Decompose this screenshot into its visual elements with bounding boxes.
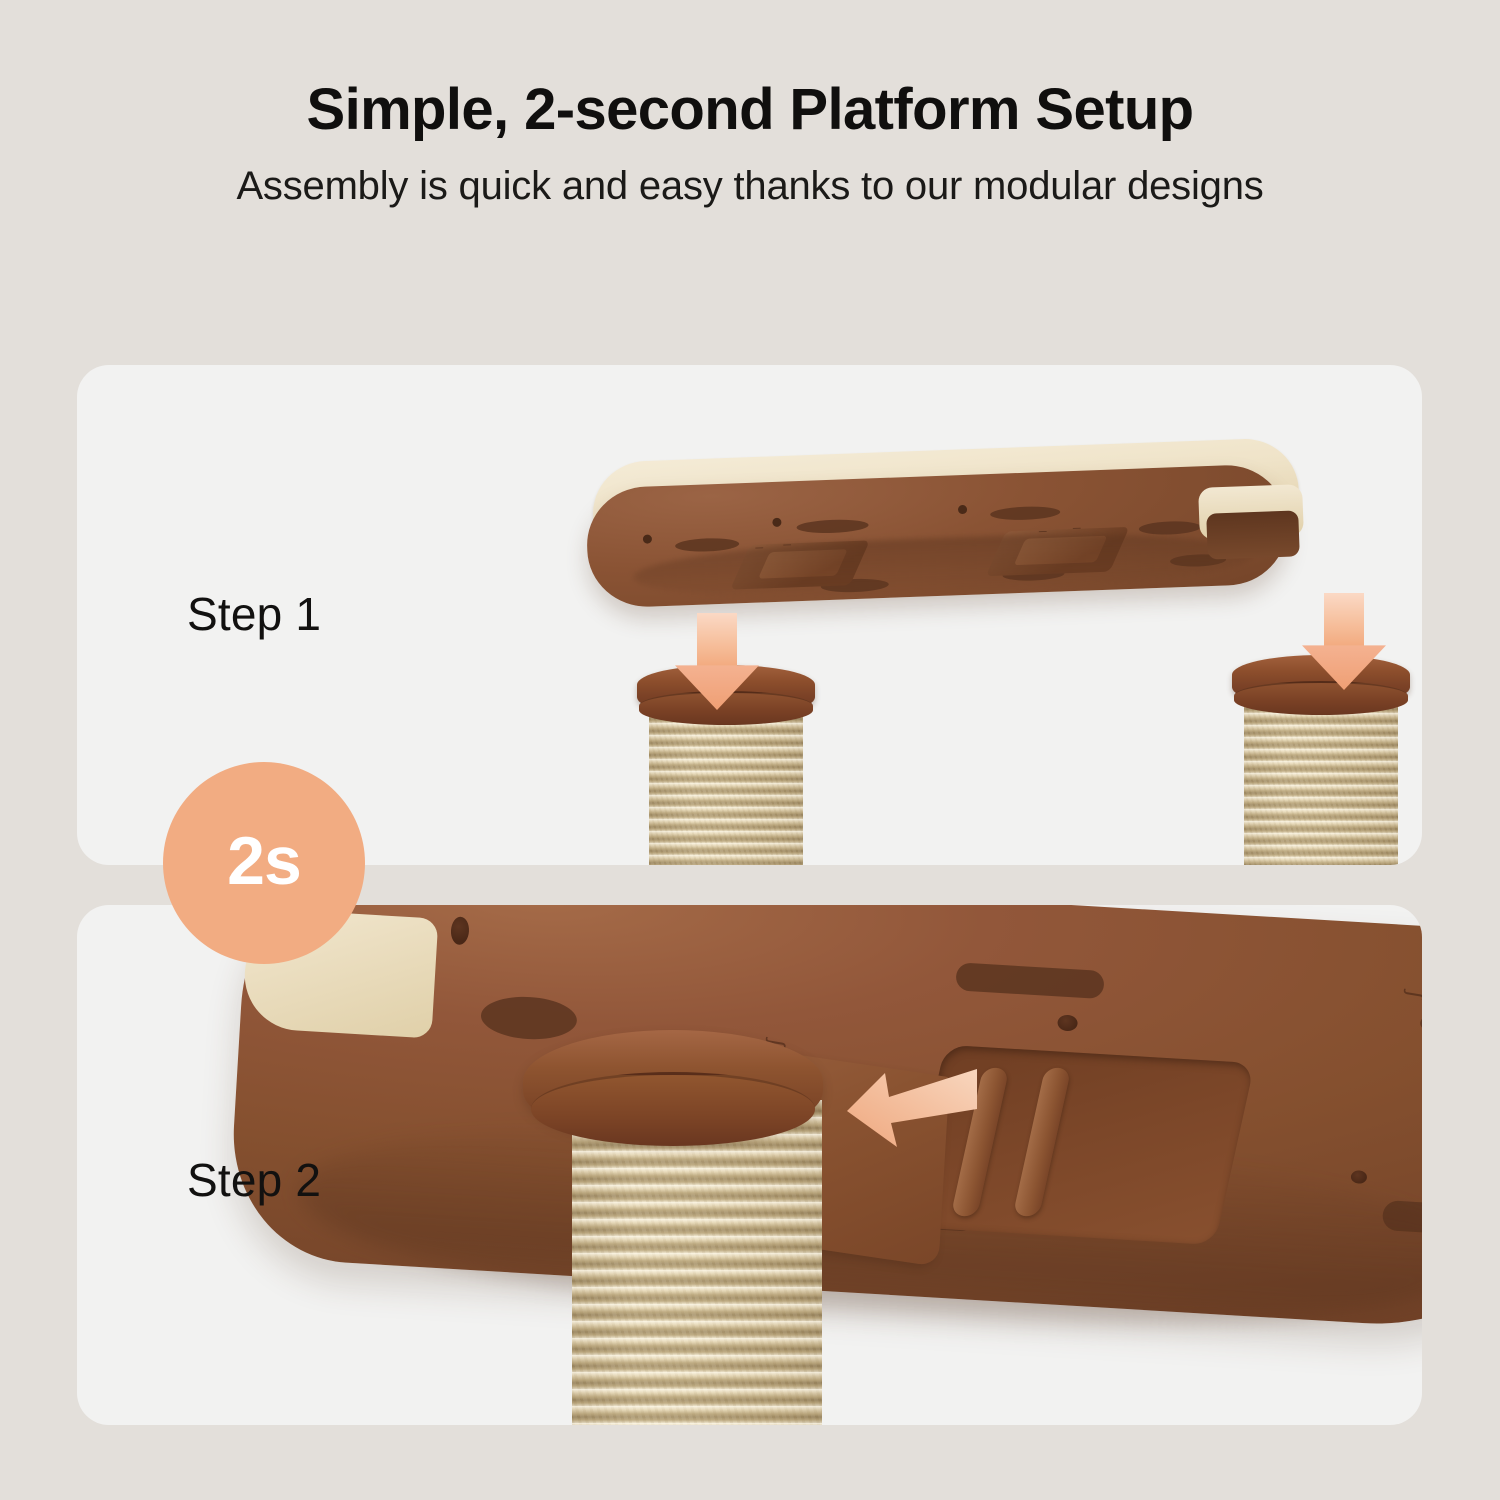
sisal-post — [572, 1100, 822, 1425]
platform-pinhole — [643, 534, 652, 543]
sisal-rope — [1244, 701, 1397, 865]
molding-mark: ∫ — [1402, 989, 1422, 999]
platform-slot — [675, 537, 739, 552]
platform-slot — [1420, 1014, 1422, 1034]
arrow-left-icon — [845, 1065, 977, 1155]
step-2-label: Step 2 — [187, 1153, 321, 1207]
step-1-label: Step 1 — [187, 587, 321, 641]
arrow-head — [1302, 645, 1386, 690]
platform-pinhole — [1351, 1170, 1368, 1184]
platform-pinhole — [958, 505, 967, 514]
molding-mark: – — [1072, 519, 1080, 535]
sisal-rope — [649, 711, 802, 865]
arrow-shaft — [1324, 593, 1364, 649]
arrow-shaft — [697, 613, 737, 669]
page-subtitle: Assembly is quick and easy thanks to our… — [0, 163, 1500, 209]
arrow-down-icon — [675, 613, 759, 710]
platform-slot — [1139, 520, 1201, 535]
arrow-head — [675, 665, 759, 710]
page-title: Simple, 2-second Platform Setup — [0, 78, 1500, 143]
platform-slot — [990, 505, 1060, 521]
platform-end-cap-recess — [1206, 510, 1300, 559]
platform-slot — [955, 962, 1104, 999]
arrow-down-icon — [1302, 593, 1386, 690]
platform-pinhole — [772, 518, 781, 527]
platform-slot — [480, 994, 578, 1042]
platform-pinhole — [1057, 1014, 1078, 1031]
platform-pinhole — [450, 916, 470, 945]
platform-board: – – – – — [587, 450, 1307, 610]
platform-slot — [796, 519, 868, 535]
duration-badge: 2s — [163, 762, 365, 964]
post-collar-ring — [531, 1072, 815, 1146]
duration-badge-label: 2s — [227, 827, 301, 895]
header: Simple, 2-second Platform Setup Assembly… — [0, 0, 1500, 209]
